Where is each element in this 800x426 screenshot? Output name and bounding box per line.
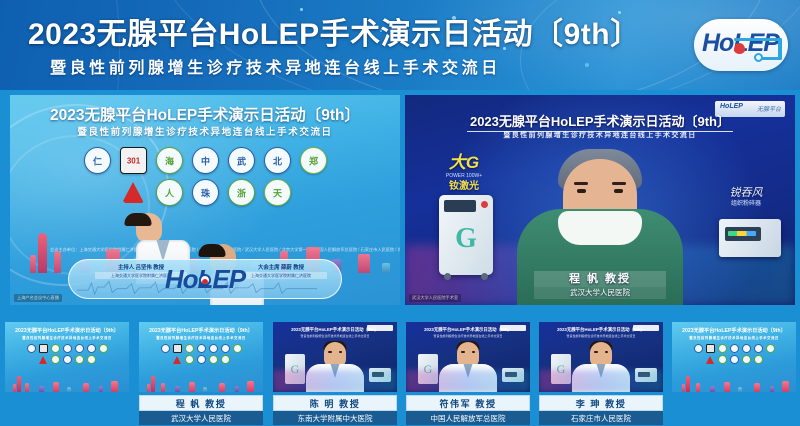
mini-logo-row (153, 344, 249, 353)
mini-overlay-title: 2023无腺平台HoLEP手术演示日活动〔9th〕 (539, 327, 663, 333)
blood-drop-icon (734, 43, 745, 54)
eye-shape (472, 351, 476, 353)
host-credit-secondary: 大会主席 薛蔚 教授 上海交通大学医学院附属仁济医院 (235, 264, 327, 279)
thumbnail-4[interactable]: 2023无腺平台HoLEP手术演示日活动〔9th〕 暨良性前列腺增生诊疗技术异地… (539, 322, 663, 425)
lab-coat-shape (572, 364, 630, 392)
mini-logo-grid (153, 344, 249, 366)
mini-laser-machine (551, 354, 571, 384)
machine-power-button (481, 201, 488, 208)
header-dot-decoration (300, 8, 303, 11)
morcellator-subtitle: 组织粉碎器 (711, 200, 781, 209)
mini-logo-row (153, 355, 249, 364)
thumbnail-video-frame[interactable]: 2023无腺平台HoLEP手术演示日活动〔9th〕 暨良性前列腺增生诊疗技术异地… (273, 322, 397, 392)
eye-shape (594, 351, 598, 353)
hospital-logo-icon: 海 (156, 147, 183, 174)
panelist-figure (136, 213, 140, 217)
mini-slide-title: 2023无腺平台HoLEP手术演示日活动〔9th〕 (139, 327, 263, 334)
host-org: 上海交通大学医学院附属仁济医院 (235, 272, 327, 279)
mini-overlay-title: 2023无腺平台HoLEP手术演示日活动〔9th〕 (273, 327, 397, 333)
hospital-logo-icon: 北 (264, 147, 291, 174)
lower-third-banner: 主持人 吕坚伟 教授 上海交通大学医学院附属仁济医院 大会主席 薛蔚 教授 上海… (68, 259, 342, 299)
mini-overlay-title: 2023无腺平台HoLEP手术演示日活动〔9th〕 (406, 327, 530, 333)
laser-product-callout: 大G POWER 100W+ 钕激光 (427, 153, 501, 194)
holep-brand-logo: HoLEP ® (694, 19, 788, 71)
surgical-mask-shape (558, 211, 642, 245)
header-title-group: 2023无腺平台HoLEP手术演示日活动〔9th〕 暨良性前列腺增生诊疗技术异地… (28, 17, 668, 80)
mini-slide-subtitle: 暨良性前列腺增生诊疗技术异地连台线上手术交流日 (672, 335, 796, 340)
overlay-subtitle: 暨良性前列腺增生诊疗技术异地连台线上手术交流日 (405, 130, 795, 140)
thumbnail-video-frame[interactable]: 2023无腺平台HoLEP手术演示日活动〔9th〕 暨良性前列腺增生诊疗技术异地… (672, 322, 796, 392)
mini-slide-title: 2023无腺平台HoLEP手术演示日活动〔9th〕 (5, 327, 129, 334)
brand-wordmark: HoLEP (720, 103, 743, 110)
mini-or-background: 2023无腺平台HoLEP手术演示日活动〔9th〕 暨良性前列腺增生诊疗技术异地… (406, 322, 530, 392)
thumbnail-5[interactable]: 2023无腺平台HoLEP手术演示日活动〔9th〕 暨良性前列腺增生诊疗技术异地… (672, 322, 796, 392)
thumbnail-label: 程 帆 教授 武汉大学人民医院 (139, 395, 263, 425)
hospital-logo-icon: 郑 (300, 147, 327, 174)
eye-shape (328, 351, 332, 353)
mini-participant-figure (305, 346, 365, 392)
speaker-name: 程 帆 教授 (534, 271, 666, 287)
scope-ring-icon (754, 53, 763, 62)
hospital-logo-icon: 仁 (84, 147, 111, 174)
thumbnail-label: 符伟军 教授 中国人民解放军总医院 (406, 395, 530, 425)
speaker-org: 武汉大学人民医院 (534, 287, 666, 299)
hospital-logo-icon: 武 (228, 147, 255, 174)
mini-logo-row (686, 344, 782, 353)
page-header: 2023无腺平台HoLEP手术演示日活动〔9th〕 暨良性前列腺增生诊疗技术异地… (0, 0, 800, 90)
mini-morcellator (635, 368, 657, 382)
hospital-logo-icon: 中 (192, 147, 219, 174)
page-title: 2023无腺平台HoLEP手术演示日活动〔9th〕 (28, 17, 668, 53)
mini-slide-background: 2023无腺平台HoLEP手术演示日活动〔9th〕 暨良性前列腺增生诊疗技术异地… (139, 322, 263, 392)
slide-subtitle: 暨良性前列腺增生诊疗技术异地连台线上手术交流日 (10, 124, 400, 138)
thumbnail-video-frame[interactable]: 2023无腺平台HoLEP手术演示日活动〔9th〕 暨良性前列腺增生诊疗技术异地… (406, 322, 530, 392)
host-name: 大会主席 薛蔚 教授 (235, 264, 327, 272)
mini-overlay-subtitle: 暨良性前列腺增生诊疗技术异地连台线上手术交流日 (539, 334, 663, 338)
morcellator-name: 锐吞风 (711, 187, 781, 200)
morcellator-device-graphic (719, 219, 781, 257)
participant-org: 中国人民解放军总医院 (406, 411, 530, 425)
mini-overlay-subtitle: 暨良性前列腺增生诊疗技术异地连台线上手术交流日 (406, 334, 530, 338)
participant-name: 符伟军 教授 (406, 395, 530, 411)
participant-org: 武汉大学人民医院 (139, 411, 263, 425)
eye-shape (605, 351, 609, 353)
mini-laser-machine (418, 354, 438, 384)
video-tile-conference-slide[interactable]: 2023无腺平台HoLEP手术演示日活动〔9th〕 暨良性前列腺增生诊疗技术异地… (10, 95, 400, 305)
panelist-figure (210, 244, 213, 247)
mini-logo-grid (686, 344, 782, 366)
hair-shape (198, 244, 225, 257)
mini-skyline-decoration (139, 372, 263, 392)
participant-name: 程 帆 教授 (139, 395, 263, 411)
mini-morcellator (502, 368, 524, 382)
machine-wheel (444, 273, 451, 280)
mini-logo-row (19, 355, 115, 364)
lab-coat-shape (439, 364, 497, 392)
machine-logo-letter: G (439, 223, 493, 255)
mini-slide-subtitle: 暨良性前列腺增生诊疗技术异地连台线上手术交流日 (5, 335, 129, 340)
thumbnail-3[interactable]: 2023无腺平台HoLEP手术演示日活动〔9th〕 暨良性前列腺增生诊疗技术异地… (406, 322, 530, 425)
eyebrow-shape (574, 182, 588, 185)
slide-title: 2023无腺平台HoLEP手术演示日活动〔9th〕 (10, 103, 400, 125)
mini-overlay-subtitle: 暨良性前列腺增生诊疗技术异地连台线上手术交流日 (273, 334, 397, 338)
participant-org: 石家庄市人民医院 (539, 411, 663, 425)
thumbnail-label: 李 珅 教授 石家庄市人民医院 (539, 395, 663, 425)
laser-power-label: POWER 100W+ (427, 173, 501, 180)
video-stage: 2023无腺平台HoLEP手术演示日活动〔9th〕 暨良性前列腺增生诊疗技术异地… (0, 90, 800, 316)
thumbnail-video-frame[interactable]: 2023无腺平台HoLEP手术演示日活动〔9th〕 暨良性前列腺增生诊疗技术异地… (5, 322, 129, 392)
mini-morcellator (369, 368, 391, 382)
mini-slide-background: 2023无腺平台HoLEP手术演示日活动〔9th〕 暨良性前列腺增生诊疗技术异地… (5, 322, 129, 392)
video-tile-active-speaker[interactable]: HoLEP 无腺平台 2023无腺平台HoLEP手术演示日活动〔9th〕 暨良性… (405, 95, 795, 305)
eyebrow-shape (612, 182, 626, 185)
eye-shape (577, 189, 586, 193)
mini-logo-grid (19, 344, 115, 366)
laser-machine-graphic: G (439, 195, 493, 275)
speaker-name-overlay: 程 帆 教授 武汉大学人民医院 (534, 271, 666, 299)
mini-slide-background: 2023无腺平台HoLEP手术演示日活动〔9th〕 暨良性前列腺增生诊疗技术异地… (672, 322, 796, 392)
mini-participant-figure (438, 346, 498, 392)
participant-name: 李 珅 教授 (539, 395, 663, 411)
mini-participant-figure (571, 346, 631, 392)
page-subtitle: 暨良性前列腺增生诊疗技术异地连台线上手术交流日 (50, 58, 668, 80)
thumbnail-label: 陈 明 教授 东南大学附属中大医院 (273, 395, 397, 425)
participant-thumbnail-strip: 2023无腺平台HoLEP手术演示日活动〔9th〕 暨良性前列腺增生诊疗技术异地… (0, 320, 800, 426)
blood-drop-icon (199, 274, 211, 286)
thumbnail-video-frame[interactable]: 2023无腺平台HoLEP手术演示日活动〔9th〕 暨良性前列腺增生诊疗技术异地… (539, 322, 663, 392)
eye-shape (614, 189, 623, 193)
logo-row: 仁 301 海 中 武 北 郑 (68, 147, 343, 174)
header-dot-decoration (618, 11, 621, 14)
mini-logo-row (686, 355, 782, 364)
thumbnail-1[interactable]: 2023无腺平台HoLEP手术演示日活动〔9th〕 暨良性前列腺增生诊疗技术异地… (139, 322, 263, 425)
mini-skyline-decoration (672, 372, 796, 392)
device-panel (725, 227, 761, 241)
hospital-logo-icon: 301 (120, 147, 147, 174)
broadcast-watermark: 上海产名会议中心直播 (14, 294, 62, 302)
thumbnail-0[interactable]: 2023无腺平台HoLEP手术演示日活动〔9th〕 暨良性前列腺增生诊疗技术异地… (5, 322, 129, 392)
mini-skyline-decoration (5, 372, 129, 392)
morcellator-callout: 锐吞风 组织粉碎器 (711, 187, 781, 209)
hair-shape (125, 213, 152, 226)
participant-org: 东南大学附属中大医院 (273, 411, 397, 425)
machine-wheel (481, 273, 488, 280)
scope-shaft-icon (734, 38, 782, 41)
thumbnail-2[interactable]: 2023无腺平台HoLEP手术演示日活动〔9th〕 暨良性前列腺增生诊疗技术异地… (273, 322, 397, 425)
mini-slide-subtitle: 暨良性前列腺增生诊疗技术异地连台线上手术交流日 (139, 335, 263, 340)
mini-or-background: 2023无腺平台HoLEP手术演示日活动〔9th〕 暨良性前列腺增生诊疗技术异地… (539, 322, 663, 392)
eye-shape (461, 351, 465, 353)
overlay-title: 2023无腺平台HoLEP手术演示日活动〔9th〕 (405, 111, 795, 130)
machine-screen (444, 200, 476, 212)
registered-mark: ® (779, 23, 784, 30)
mini-slide-title: 2023无腺平台HoLEP手术演示日活动〔9th〕 (672, 327, 796, 334)
mini-logo-row (19, 344, 115, 353)
laser-product-mark: 大G (427, 153, 501, 173)
scope-base-icon (760, 57, 782, 60)
mini-or-background: 2023无腺平台HoLEP手术演示日活动〔9th〕 暨良性前列腺增生诊疗技术异地… (273, 322, 397, 392)
thumbnail-video-frame[interactable]: 2023无腺平台HoLEP手术演示日活动〔9th〕 暨良性前列腺增生诊疗技术异地… (139, 322, 263, 392)
lab-coat-shape (306, 364, 364, 392)
participant-name: 陈 明 教授 (273, 395, 397, 411)
eye-shape (339, 351, 343, 353)
broadcast-watermark: 武汉大学人民医院手术室 (409, 294, 461, 302)
laser-product-name: 钕激光 (427, 180, 501, 194)
mini-laser-machine (285, 354, 305, 384)
